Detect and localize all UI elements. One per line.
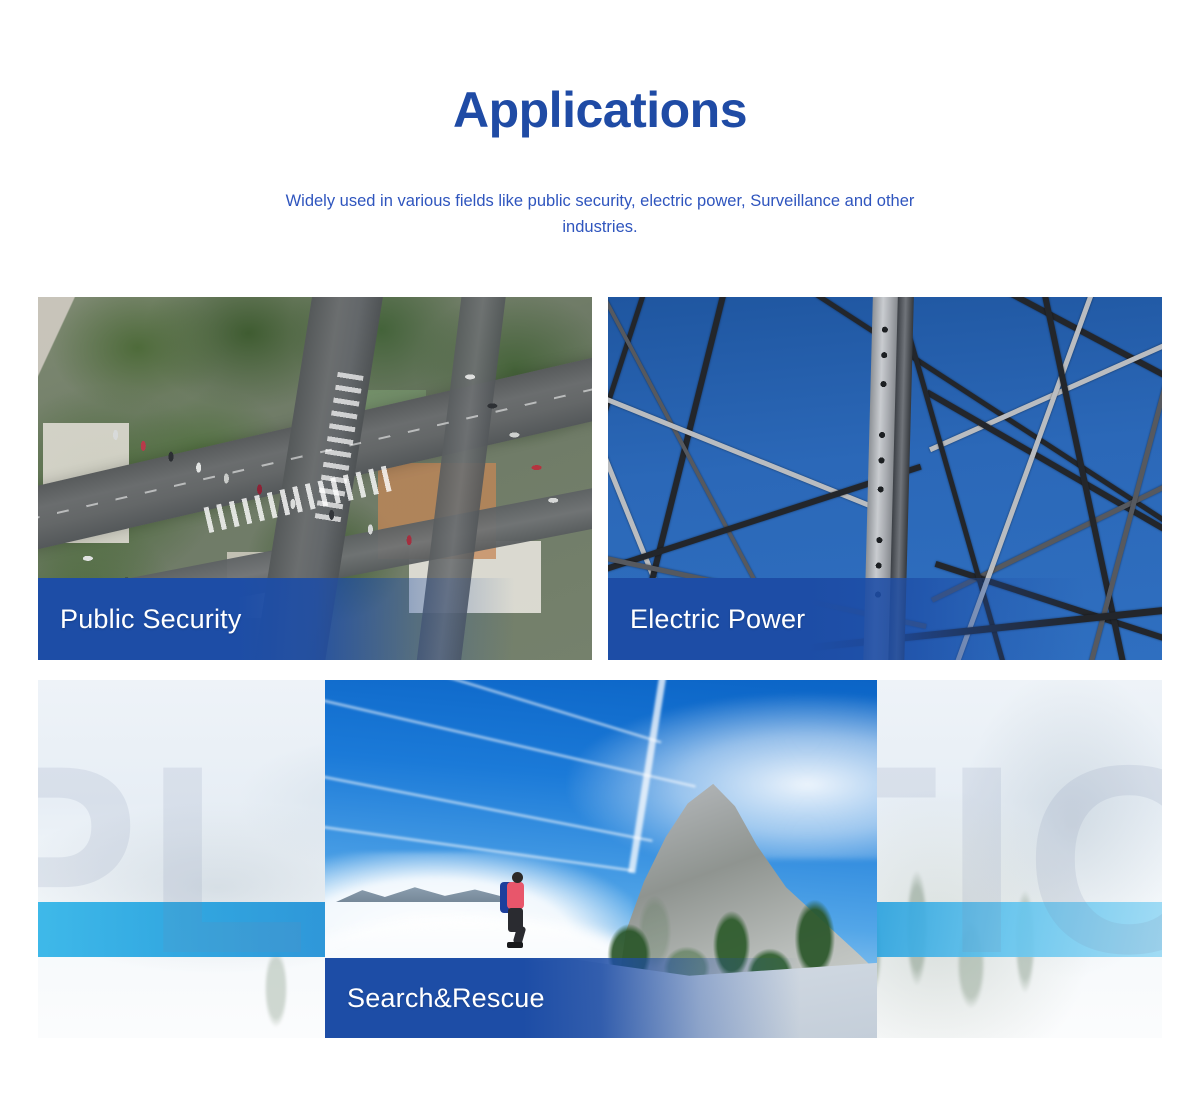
tower-beam xyxy=(608,385,896,518)
card-label-band: Electric Power xyxy=(608,578,1162,660)
tower-beam xyxy=(923,297,1162,385)
hiker-torso xyxy=(507,882,524,909)
application-card-public-security[interactable]: Public Security xyxy=(38,297,592,660)
card-label-band: Search&Rescue xyxy=(325,958,877,1038)
application-card-electric-power[interactable]: Electric Power xyxy=(608,297,1162,660)
card-label-band: Public Security xyxy=(38,578,592,660)
page-title: Applications xyxy=(0,82,1200,140)
card-label-text: Search&Rescue xyxy=(325,983,545,1014)
card-label-text: Public Security xyxy=(38,604,242,635)
application-card-search-rescue[interactable]: Search&Rescue xyxy=(325,680,877,1038)
page-subtitle: Widely used in various fields like publi… xyxy=(270,188,930,241)
hiker-head xyxy=(512,872,523,883)
applications-row-top: Public Security xyxy=(38,297,1162,660)
peak-hiker xyxy=(499,872,533,952)
hiker-boot xyxy=(507,942,523,948)
applications-row-bottom: APPLICATIONS xyxy=(38,680,1162,1038)
section-header: Applications Widely used in various fiel… xyxy=(0,0,1200,241)
applications-section: Applications Widely used in various fiel… xyxy=(0,0,1200,1110)
card-label-text: Electric Power xyxy=(608,604,805,635)
applications-grid: Public Security xyxy=(38,297,1162,1038)
